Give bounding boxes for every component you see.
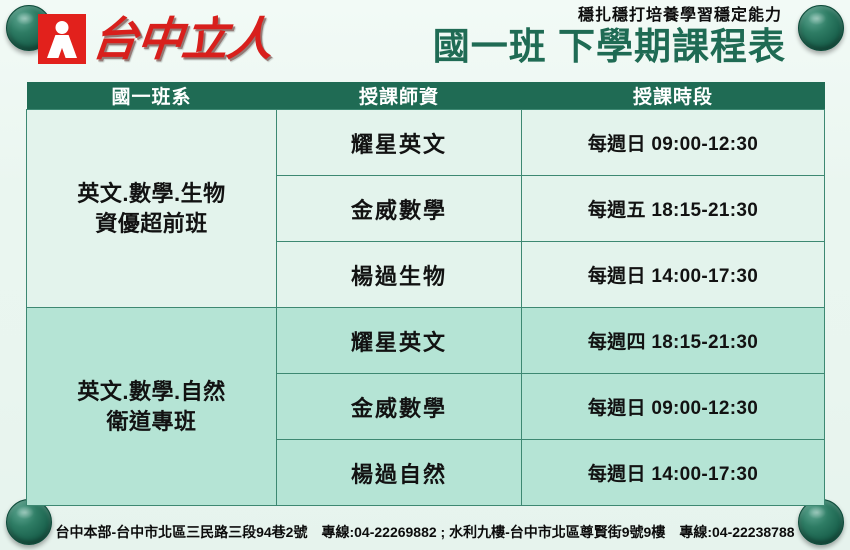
class-group-cell-1: 英文.數學.生物 資優超前班 bbox=[27, 110, 277, 308]
teacher-cell: 楊過生物 bbox=[277, 242, 522, 308]
table-row: 英文.數學.自然 衛道專班 耀星英文 每週四 18:15-21:30 bbox=[27, 308, 825, 374]
column-header-time: 授課時段 bbox=[522, 82, 825, 110]
class-group-line-2: 衛道專班 bbox=[106, 409, 196, 434]
teacher-cell: 金威數學 bbox=[277, 176, 522, 242]
brand-logo: 台中立人 bbox=[38, 14, 272, 64]
time-cell: 每週日 09:00-12:30 bbox=[522, 110, 825, 176]
time-cell: 每週日 14:00-17:30 bbox=[522, 440, 825, 506]
time-cell: 每週五 18:15-21:30 bbox=[522, 176, 825, 242]
time-cell: 每週日 09:00-12:30 bbox=[522, 374, 825, 440]
contact-footer: 台中本部-台中市北區三民路三段94巷2號 專線:04-22269882 ; 水利… bbox=[0, 522, 850, 542]
class-group-line-1: 英文.數學.自然 bbox=[77, 379, 225, 404]
tagline: 穩扎穩打培養學習穩定能力 bbox=[433, 6, 782, 25]
schedule-table-head: 國一班系 授課師資 授課時段 bbox=[27, 82, 825, 110]
teacher-cell: 耀星英文 bbox=[277, 110, 522, 176]
teacher-cell: 金威數學 bbox=[277, 374, 522, 440]
class-group-cell-2: 英文.數學.自然 衛道專班 bbox=[27, 308, 277, 506]
column-header-class: 國一班系 bbox=[27, 82, 277, 110]
table-row: 英文.數學.生物 資優超前班 耀星英文 每週日 09:00-12:30 bbox=[27, 110, 825, 176]
class-group-line-1: 英文.數學.生物 bbox=[77, 181, 225, 206]
brand-name: 台中立人 bbox=[90, 16, 275, 62]
schedule-table: 國一班系 授課師資 授課時段 英文.數學.生物 資優超前班 耀星英文 每週日 0… bbox=[26, 82, 825, 506]
schedule-table-body: 英文.數學.生物 資優超前班 耀星英文 每週日 09:00-12:30 金威數學… bbox=[27, 110, 825, 506]
page-title: 國一班 下學期課程表 bbox=[433, 26, 786, 67]
person-head-shape bbox=[56, 21, 69, 34]
person-body-shape bbox=[47, 35, 77, 58]
title-block: 穩扎穩打培養學習穩定能力 國一班 下學期課程表 bbox=[433, 6, 786, 68]
teacher-cell: 楊過自然 bbox=[277, 440, 522, 506]
course-schedule-poster: 台中立人 穩扎穩打培養學習穩定能力 國一班 下學期課程表 國一班系 授課師資 授… bbox=[0, 0, 850, 550]
time-cell: 每週四 18:15-21:30 bbox=[522, 308, 825, 374]
teacher-cell: 耀星英文 bbox=[277, 308, 522, 374]
table-header-row: 國一班系 授課師資 授課時段 bbox=[27, 82, 825, 110]
column-header-teacher: 授課師資 bbox=[277, 82, 522, 110]
poster-header: 台中立人 穩扎穩打培養學習穩定能力 國一班 下學期課程表 bbox=[0, 0, 850, 82]
time-cell: 每週日 14:00-17:30 bbox=[522, 242, 825, 308]
class-group-line-2: 資優超前班 bbox=[95, 211, 208, 236]
person-in-red-square-icon bbox=[38, 14, 86, 64]
